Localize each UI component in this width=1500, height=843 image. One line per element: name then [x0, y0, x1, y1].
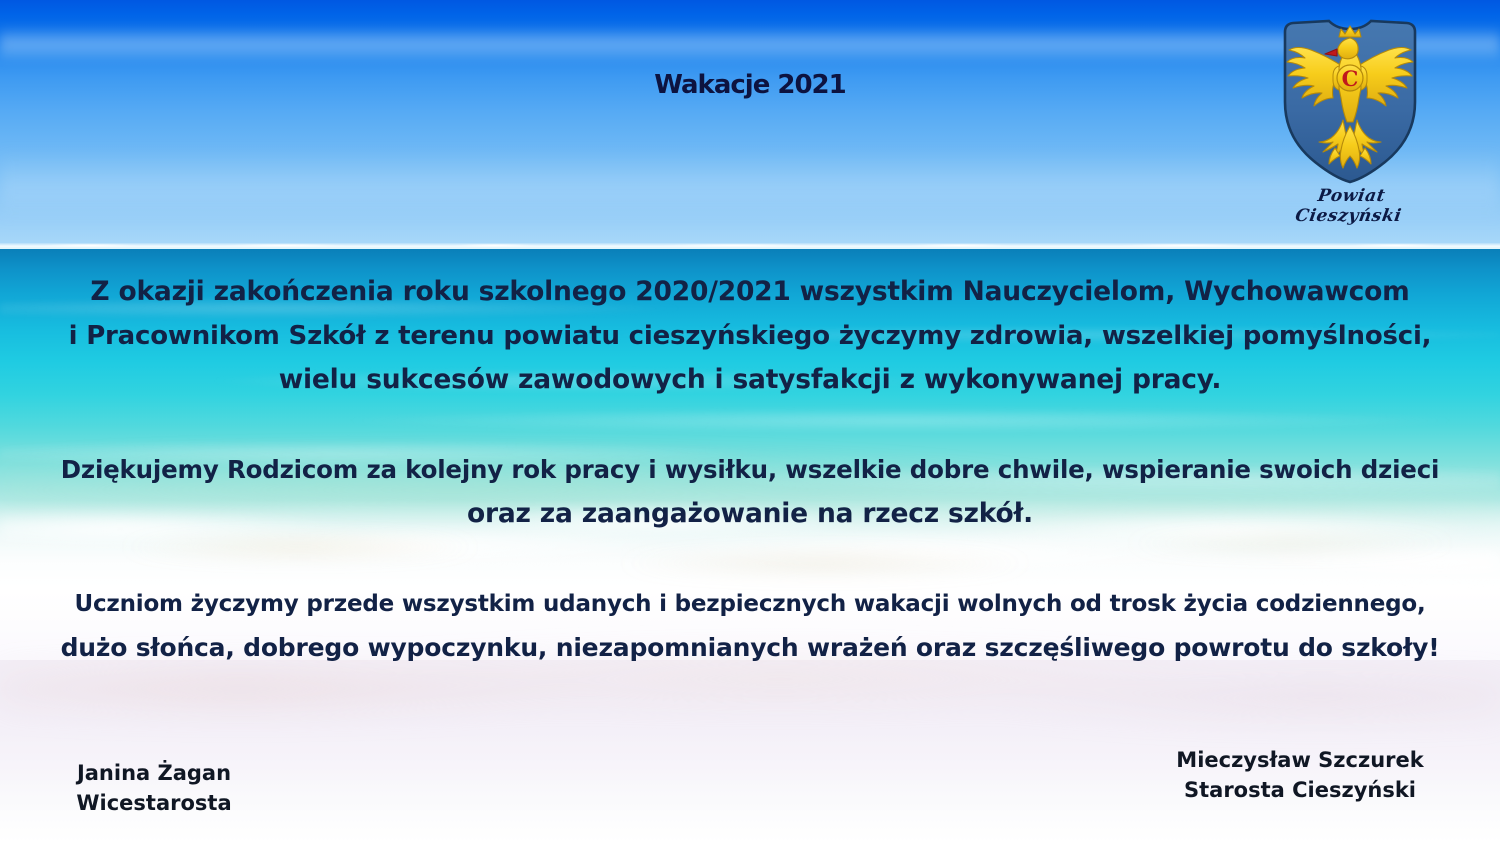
paragraph-teachers-line-3: wielu sukcesów zawodowych i satysfakcji …: [60, 358, 1440, 402]
signature-starost: Mieczysław Szczurek Starosta Cieszyński: [1160, 745, 1440, 805]
paragraph-teachers-line-1: Z okazji zakończenia roku szkolnego 2020…: [60, 270, 1440, 314]
paragraph-teachers-line-2: i Pracownikom Szkół z terenu powiatu cie…: [60, 314, 1440, 358]
holiday-greeting-poster: Wakacje 2021: [0, 0, 1500, 843]
signature-right-role: Starosta Cieszyński: [1160, 775, 1440, 805]
signature-right-name: Mieczysław Szczurek: [1160, 745, 1440, 775]
svg-text:C: C: [1342, 66, 1359, 91]
paragraph-parents-line-1: Dziękujemy Rodzicom za kolejny rok pracy…: [60, 448, 1440, 492]
paragraph-parents: Dziękujemy Rodzicom za kolejny rok pracy…: [60, 448, 1440, 536]
paragraph-teachers: Z okazji zakończenia roku szkolnego 2020…: [60, 270, 1440, 402]
coat-of-arms-caption: Powiat Cieszyński: [1259, 186, 1441, 226]
poster-content: Wakacje 2021: [0, 0, 1500, 843]
signature-left-name: Janina Żagan: [44, 758, 264, 788]
signature-left-role: Wicestarosta: [44, 788, 264, 818]
paragraph-students: Uczniom życzymy przede wszystkim udanych…: [60, 582, 1440, 670]
paragraph-parents-line-2: oraz za zaangażowanie na rzecz szkół.: [60, 492, 1440, 536]
shield-icon: C: [1275, 16, 1425, 184]
paragraph-students-line-2: dużo słońca, dobrego wypoczynku, niezapo…: [60, 626, 1440, 670]
coat-of-arms: C Powiat Cieszyński: [1262, 16, 1438, 226]
greeting-message: Z okazji zakończenia roku szkolnego 2020…: [60, 270, 1440, 670]
paragraph-students-line-1: Uczniom życzymy przede wszystkim udanych…: [60, 582, 1440, 626]
signature-vice-starost: Janina Żagan Wicestarosta: [44, 758, 264, 818]
